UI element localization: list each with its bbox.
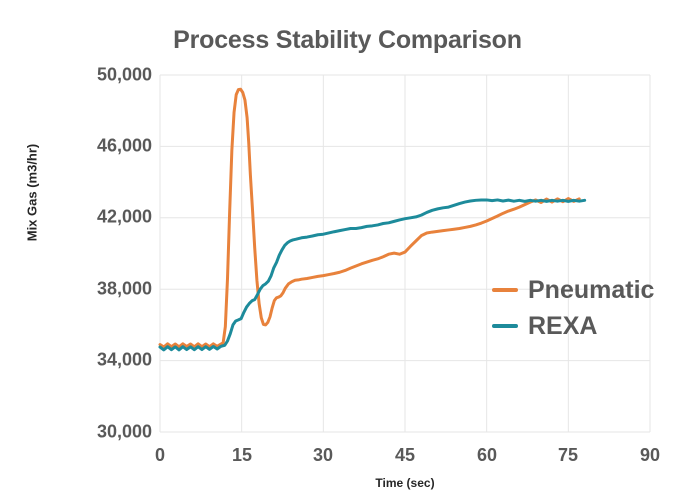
x-tick-label: 45: [375, 445, 435, 466]
y-tick-label: 38,000: [56, 279, 152, 300]
plot-area: [160, 75, 650, 432]
x-tick-label: 90: [620, 445, 680, 466]
y-tick-label: 34,000: [56, 350, 152, 371]
y-axis-title: Mix Gas (m3/hr): [25, 113, 40, 273]
legend-label: REXA: [528, 314, 597, 339]
legend-color-swatch-icon: [492, 288, 518, 292]
legend-item-pneumatic[interactable]: Pneumatic: [492, 272, 654, 308]
x-tick-label: 60: [457, 445, 517, 466]
x-axis-title: Time (sec): [160, 476, 650, 490]
x-tick-label: 15: [212, 445, 272, 466]
legend-color-swatch-icon: [492, 324, 518, 328]
y-tick-label: 42,000: [56, 207, 152, 228]
x-tick-label: 0: [130, 445, 190, 466]
legend-label: Pneumatic: [528, 278, 654, 303]
chart-legend: Pneumatic REXA: [492, 272, 654, 344]
y-tick-label: 46,000: [56, 136, 152, 157]
chart-container: Process Stability Comparison Mix Gas (m3…: [0, 0, 695, 502]
y-tick-label: 30,000: [56, 422, 152, 443]
legend-item-rexa[interactable]: REXA: [492, 308, 654, 344]
x-tick-label: 30: [293, 445, 353, 466]
y-tick-label: 50,000: [56, 65, 152, 86]
x-tick-label: 75: [538, 445, 598, 466]
y-axis-tick-labels: 50,000 46,000 42,000 38,000 34,000 30,00…: [48, 0, 152, 502]
